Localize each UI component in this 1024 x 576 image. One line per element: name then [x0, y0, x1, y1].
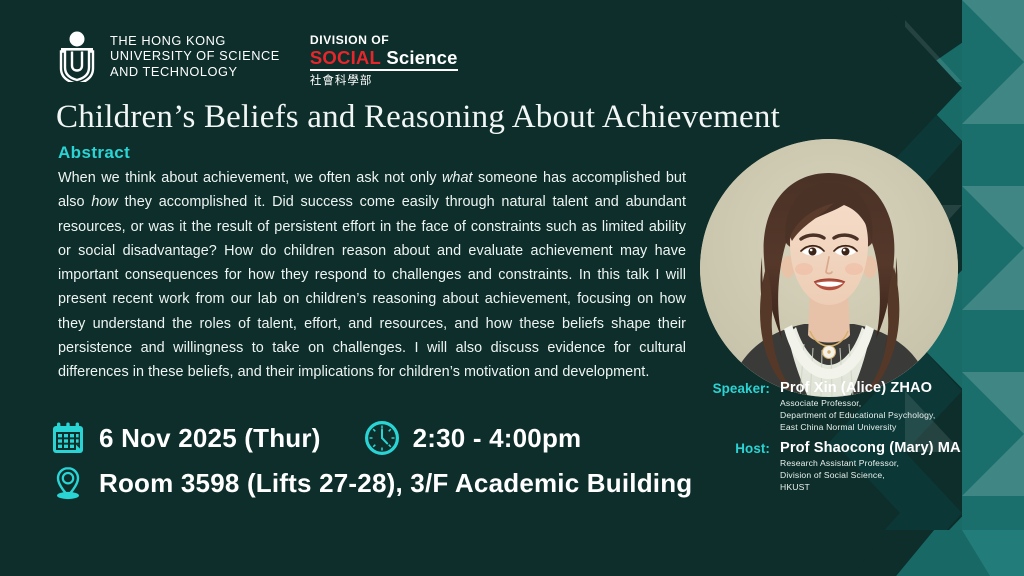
event-venue: Room 3598 (Lifts 27-28), 3/F Academic Bu…: [50, 465, 692, 501]
host-affiliation-line-1: Research Assistant Professor,: [780, 458, 961, 469]
host-entry: Host: Prof Shaocong (Mary) MA Research A…: [688, 440, 1018, 493]
division-word-social: SOCIAL: [310, 47, 381, 68]
event-date-time-row: 6 Nov 2025 (Thur) 2:30 - 4:00pm: [50, 420, 692, 456]
host-affiliation-line-2: Division of Social Science,: [780, 470, 961, 481]
hkust-line-1: THE HONG KONG: [110, 33, 280, 49]
host-role-label: Host:: [688, 440, 770, 456]
host-name: Prof Shaocong (Mary) MA: [780, 440, 961, 457]
clock-icon: [364, 420, 400, 456]
hkust-line-2: UNIVERSITY OF SCIENCE: [110, 48, 280, 64]
abstract-text: When we think about achievement, we ofte…: [58, 166, 686, 385]
hkust-logo-text: THE HONG KONG UNIVERSITY OF SCIENCE AND …: [110, 33, 280, 80]
host-affiliation-line-3: HKUST: [780, 482, 961, 493]
logo-bar: THE HONG KONG UNIVERSITY OF SCIENCE AND …: [55, 30, 458, 89]
event-details: 6 Nov 2025 (Thur) 2:30 - 4:00pm: [50, 420, 692, 501]
speaker-name: Prof Xin (Alice) ZHAO: [780, 380, 935, 397]
abstract-emphasis-how: how: [91, 194, 118, 210]
event-date-text: 6 Nov 2025 (Thur): [99, 423, 321, 454]
event-venue-text: Room 3598 (Lifts 27-28), 3/F Academic Bu…: [99, 468, 692, 499]
hkust-logo: THE HONG KONG UNIVERSITY OF SCIENCE AND …: [55, 30, 280, 82]
abstract-seg-1: When we think about achievement, we ofte…: [58, 170, 442, 186]
speaker-affiliation-line-2: Department of Educational Psychology,: [780, 410, 935, 421]
speaker-entry: Speaker: Prof Xin (Alice) ZHAO Associate…: [688, 380, 1018, 433]
division-chinese-name: 社會科學部: [310, 74, 458, 89]
event-venue-row: Room 3598 (Lifts 27-28), 3/F Academic Bu…: [50, 465, 692, 501]
event-date: 6 Nov 2025 (Thur): [50, 420, 321, 456]
speaker-affiliation-line-3: East China Normal University: [780, 422, 935, 433]
hkust-shield-icon: [55, 30, 99, 82]
event-time-text: 2:30 - 4:00pm: [413, 423, 582, 454]
abstract-seg-3: they accomplished it. Did success come e…: [58, 194, 686, 380]
hkust-line-3: AND TECHNOLOGY: [110, 64, 280, 80]
seminar-poster: THE HONG KONG UNIVERSITY OF SCIENCE AND …: [0, 0, 1024, 576]
abstract-emphasis-what: what: [442, 170, 473, 186]
speaker-details: Prof Xin (Alice) ZHAO Associate Professo…: [780, 380, 935, 433]
speaker-affiliation-line-1: Associate Professor,: [780, 398, 935, 409]
page-title: Children’s Beliefs and Reasoning About A…: [56, 97, 780, 137]
division-line-2: SOCIAL Science: [310, 47, 458, 71]
speaker-portrait: [700, 139, 958, 397]
host-details: Prof Shaocong (Mary) MA Research Assista…: [780, 440, 961, 493]
speaker-role-label: Speaker:: [688, 380, 770, 396]
event-time: 2:30 - 4:00pm: [364, 420, 582, 456]
location-pin-icon: [50, 465, 86, 501]
division-word-science: Science: [386, 47, 457, 68]
division-line-1: DIVISION OF: [310, 33, 458, 47]
division-logo: DIVISION OF SOCIAL Science 社會科學部: [310, 30, 458, 89]
abstract-heading: Abstract: [58, 143, 130, 163]
people-block: Speaker: Prof Xin (Alice) ZHAO Associate…: [688, 380, 1018, 501]
calendar-icon: [50, 420, 86, 456]
